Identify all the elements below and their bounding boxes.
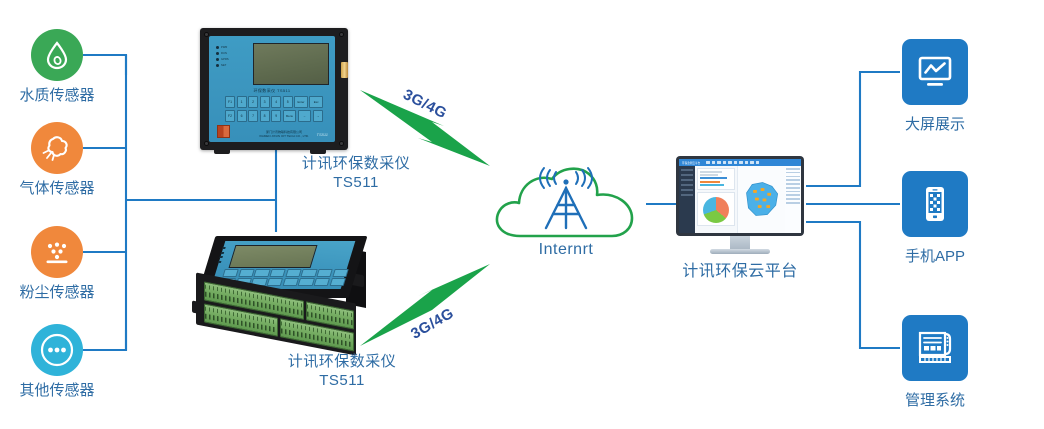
topology-diagram: 水质传感器 气体传感器 粉尘传感器 <box>0 0 1044 429</box>
led-label: NET <box>221 64 227 67</box>
sensor-icon-other[interactable] <box>31 324 83 376</box>
sensor-label-gas: 气体传感器 <box>0 177 122 198</box>
dashboard-title: 环保监测云平台 <box>682 161 700 165</box>
keypad-key[interactable]: 5 <box>283 96 293 108</box>
ellipsis-circle-icon <box>37 330 77 370</box>
device-connector <box>341 62 348 78</box>
device-model-text: 环保数采仪 TS511 <box>209 88 335 94</box>
output-label-big-screen: 大屏展示 <box>865 113 1005 134</box>
device-lcd-screen <box>253 43 329 85</box>
device-ts511-terminal[interactable] <box>196 236 378 346</box>
terminal-key[interactable] <box>254 269 271 277</box>
platform-label: 计讯环保云平台 <box>680 262 800 282</box>
keypad-key[interactable]: Enter <box>294 96 308 108</box>
dust-particles-icon <box>40 235 74 269</box>
terminal-key[interactable] <box>332 269 349 277</box>
keypad-key[interactable]: → <box>313 110 323 122</box>
keypad-key[interactable]: 9 <box>271 110 281 122</box>
terminal-key[interactable] <box>238 269 255 277</box>
output-tile-mobile-app[interactable] <box>902 171 968 237</box>
sensor-icon-dust[interactable] <box>31 226 83 278</box>
dashboard-pie-card <box>697 192 735 226</box>
keypad-key[interactable]: 4 <box>271 96 281 108</box>
keypad-key[interactable]: ← <box>298 110 312 122</box>
monitor-chart-icon <box>913 50 957 94</box>
sensor-icon-gas[interactable] <box>31 122 83 174</box>
cloud-antenna-tower-icon <box>486 152 646 252</box>
keypad-key[interactable]: 3 <box>260 96 270 108</box>
output-tile-big-screen[interactable] <box>902 39 968 105</box>
dashboard-right-list <box>785 166 801 233</box>
water-drop-icon <box>41 39 73 71</box>
device-led-group: PWR RUN GPRS NET <box>216 46 248 70</box>
led-label: RUN <box>221 52 227 55</box>
terminal-lcd-screen <box>228 245 317 268</box>
sensor-label-water: 水质传感器 <box>0 84 122 105</box>
terminal-key[interactable] <box>282 278 299 286</box>
keypad-key[interactable]: 2 <box>248 96 258 108</box>
device-2-caption: 计讯环保数采仪 TS511 <box>282 353 402 391</box>
smartphone-grid-icon <box>913 182 957 226</box>
dashboard-sidebar[interactable] <box>679 166 695 233</box>
device-ts511-panel[interactable]: PWR RUN GPRS NET 环保数采仪 TS511 F1 1 2 3 4 … <box>200 28 348 150</box>
keypad-key[interactable]: F2 <box>225 110 235 122</box>
sensor-label-dust: 粉尘传感器 <box>0 281 122 302</box>
terminal-key[interactable] <box>301 269 318 277</box>
monitor-stand <box>730 236 750 250</box>
internet-cloud[interactable] <box>486 152 646 252</box>
device-front-panel: PWR RUN GPRS NET 环保数采仪 TS511 F1 1 2 3 4 … <box>209 36 335 142</box>
monitor-base <box>710 249 770 254</box>
dashboard-map[interactable] <box>737 166 785 233</box>
keypad-key[interactable]: Esc <box>309 96 323 108</box>
terminal-key[interactable] <box>270 269 287 277</box>
link-bolt-lower <box>358 258 508 353</box>
keypad-key[interactable]: 7 <box>248 110 258 122</box>
sensor-label-other: 其他传感器 <box>0 379 122 400</box>
cloud-platform-monitor[interactable]: 环保监测云平台 <box>676 156 804 262</box>
terminal-key[interactable] <box>285 269 302 277</box>
device-qr-sticker <box>217 125 230 138</box>
output-label-management: 管理系统 <box>865 389 1005 410</box>
output-tile-management[interactable] <box>902 315 968 381</box>
keypad-key[interactable]: 6 <box>237 110 247 122</box>
device-keypad[interactable]: F1 1 2 3 4 5 Enter Esc F2 6 7 8 9 Menu ← <box>225 96 323 123</box>
terminal-key[interactable] <box>329 278 346 286</box>
sensor-icon-water[interactable] <box>31 29 83 81</box>
monitor-bezel: 环保监测云平台 <box>676 156 804 236</box>
cloud-label: Internrt <box>506 240 626 260</box>
document-form-icon <box>912 325 958 371</box>
dashboard-pie-chart <box>703 197 729 223</box>
terminal-key[interactable] <box>317 269 334 277</box>
keypad-key[interactable]: F1 <box>225 96 235 108</box>
dashboard-left-column <box>695 166 737 233</box>
terminal-key[interactable] <box>298 278 315 286</box>
monitor-screen: 环保监测云平台 <box>679 159 801 233</box>
keypad-key[interactable]: Menu <box>283 110 297 122</box>
keypad-key[interactable]: 8 <box>260 110 270 122</box>
terminal-key[interactable] <box>314 278 331 286</box>
gas-cloud-icon <box>40 131 74 165</box>
device-brand-text: 厦门计讯物联科技有限公司 XIAMEN JIXUN IOT TECH CO., … <box>239 130 329 138</box>
dashboard-topbar: 环保监测云平台 <box>679 159 801 166</box>
led-label: PWR <box>221 46 227 49</box>
device-logo: TS511 <box>317 132 329 137</box>
led-label: GPRS <box>221 58 229 61</box>
terminal-key[interactable] <box>222 269 239 277</box>
output-label-mobile-app: 手机APP <box>865 245 1005 266</box>
keypad-key[interactable]: 1 <box>237 96 247 108</box>
terminal-key[interactable] <box>267 278 284 286</box>
map-region-shape <box>738 166 785 233</box>
